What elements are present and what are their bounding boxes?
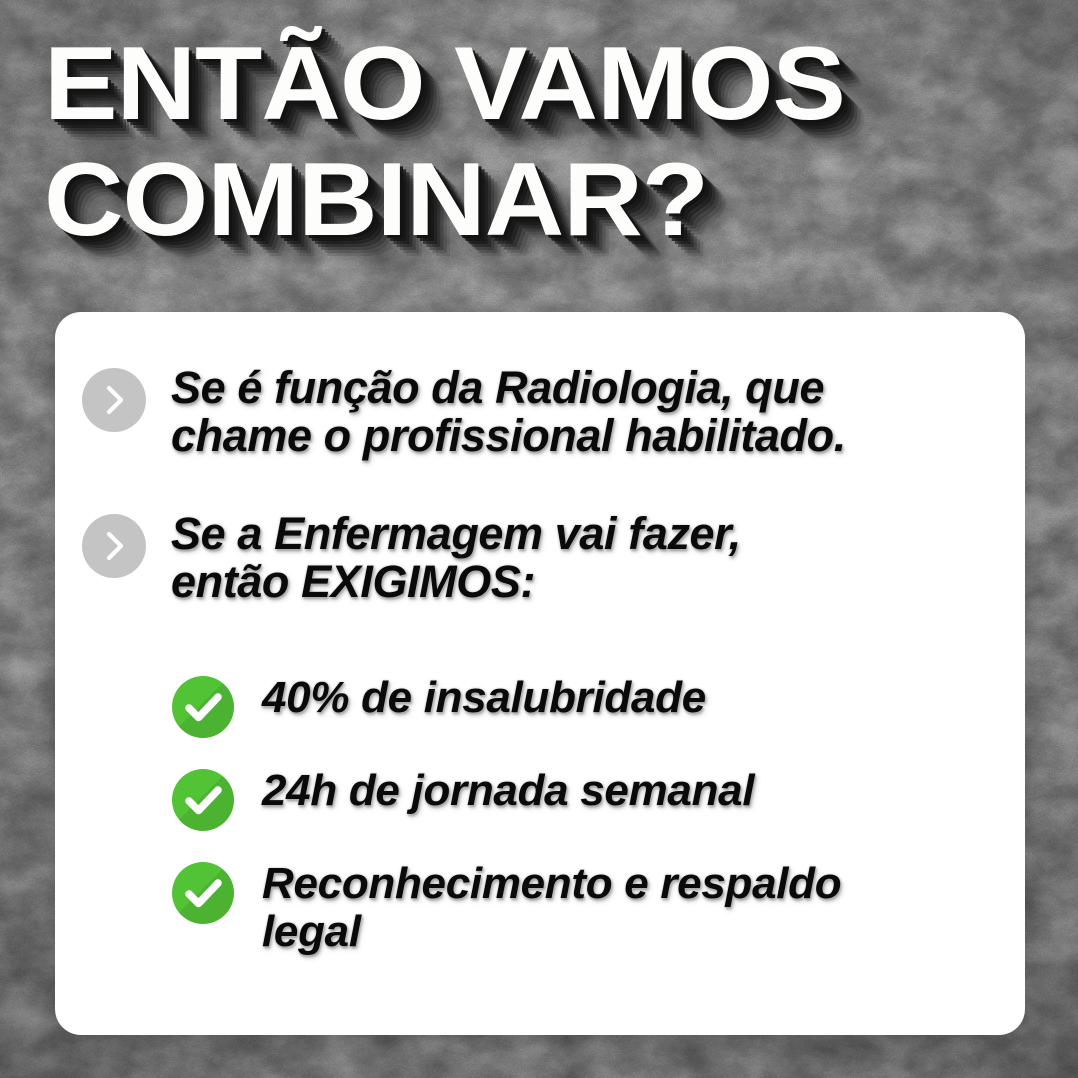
- list-item: Se a Enfermagem vai fazer, então EXIGIMO…: [82, 510, 741, 606]
- list-item: 24h de jornada semanal: [172, 767, 754, 831]
- title-line-1: ENTÃO VAMOS: [44, 26, 1078, 142]
- bullet-text-2: Se a Enfermagem vai fazer, então EXIGIMO…: [171, 510, 741, 606]
- list-item: Reconhecimento e respaldo legal: [172, 860, 841, 956]
- bullet-text-1: Se é função da Radiologia, que chame o p…: [171, 364, 846, 460]
- check-circle-icon: [172, 862, 234, 924]
- check-circle-icon: [172, 676, 234, 738]
- requirement-text-2: 24h de jornada semanal: [262, 767, 754, 815]
- chevron-right-icon: [82, 514, 146, 578]
- content-card: Se é função da Radiologia, que chame o p…: [55, 312, 1025, 1035]
- list-item: 40% de insalubridade: [172, 674, 706, 738]
- page-title: ENTÃO VAMOS COMBINAR?: [44, 26, 1044, 258]
- chevron-right-icon: [82, 368, 146, 432]
- requirement-text-3: Reconhecimento e respaldo legal: [262, 860, 841, 956]
- requirement-text-1: 40% de insalubridade: [262, 674, 706, 722]
- title-line-2: COMBINAR?: [44, 142, 1078, 258]
- check-circle-icon: [172, 769, 234, 831]
- list-item: Se é função da Radiologia, que chame o p…: [82, 364, 846, 460]
- poster-canvas: ENTÃO VAMOS COMBINAR? Se é função da Rad…: [0, 0, 1078, 1078]
